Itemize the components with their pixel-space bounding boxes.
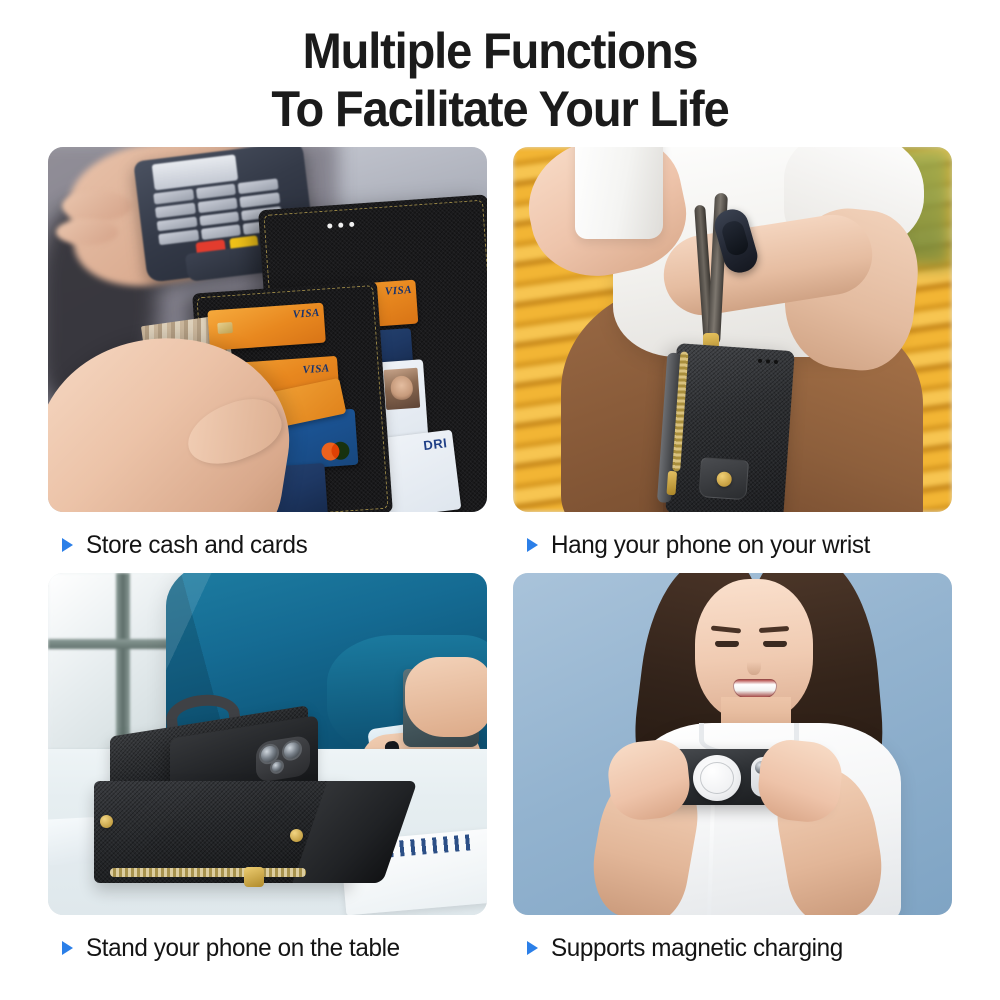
feature-grid: VISA DRI ID: 012 345 6 VISA (48, 147, 952, 915)
feature-card-hang-on-wrist: Hang your phone on your wrist (513, 147, 952, 562)
title-line-1: Multiple Functions (30, 22, 970, 80)
finger (56, 219, 118, 245)
photo-hang-on-wrist (513, 147, 952, 512)
photo-stand-on-table (48, 573, 487, 915)
caption-stand-on-table: Stand your phone on the table (62, 931, 487, 965)
zipper-pull (666, 471, 677, 496)
snap-flap (698, 457, 749, 500)
hand-holding-mug (405, 657, 487, 737)
gold-rivet (290, 829, 303, 842)
wallet-case-base (94, 781, 352, 883)
caption-store-cash-and-cards: Store cash and cards (62, 528, 487, 562)
license-title: DRI (423, 435, 449, 453)
caption-magnetic-charging: Supports magnetic charging (527, 931, 952, 965)
eyebrow (711, 625, 741, 633)
eye (715, 641, 739, 647)
caption-text: Hang your phone on your wrist (551, 531, 870, 560)
magnetic-charger-puck (693, 755, 741, 801)
feature-card-store-cash-and-cards: VISA DRI ID: 012 345 6 VISA (48, 147, 487, 562)
visa-logo: VISA (292, 307, 320, 321)
triangle-right-icon (62, 941, 73, 955)
visa-logo: VISA (302, 362, 330, 376)
mastercard-logo (321, 441, 352, 461)
finger (62, 191, 132, 221)
coffee-cup (575, 147, 663, 239)
credit-card-visa: VISA (207, 303, 326, 351)
zipper-pull (244, 867, 264, 887)
triangle-right-icon (527, 538, 538, 552)
caption-text: Stand your phone on the table (86, 934, 400, 963)
feature-card-stand-on-table: Stand your phone on the table (48, 573, 487, 965)
camera-module (256, 735, 310, 784)
wallet-case (665, 343, 795, 512)
photo-store-cash-and-cards: VISA DRI ID: 012 345 6 VISA (48, 147, 487, 512)
page-title: Multiple Functions To Facilitate Your Li… (0, 22, 1000, 138)
caption-text: Supports magnetic charging (551, 934, 843, 963)
caption-text: Store cash and cards (86, 531, 307, 560)
gold-snap-button (716, 471, 732, 487)
charger-ring (700, 762, 734, 794)
gold-rivet (100, 815, 113, 828)
gold-zipper (110, 868, 306, 877)
photo-magnetic-charging (513, 573, 952, 915)
nose (747, 653, 761, 675)
feature-card-magnetic-charging: Supports magnetic charging (513, 573, 952, 965)
id-portrait (383, 368, 420, 410)
eye (763, 641, 787, 647)
caption-hang-on-wrist: Hang your phone on your wrist (527, 528, 952, 562)
triangle-right-icon (62, 538, 73, 552)
card-chip (217, 322, 233, 334)
title-line-2: To Facilitate Your Life (30, 80, 970, 138)
smiling-mouth (733, 679, 777, 698)
visa-logo: VISA (385, 284, 413, 298)
triangle-right-icon (527, 941, 538, 955)
eyebrow (759, 626, 789, 633)
